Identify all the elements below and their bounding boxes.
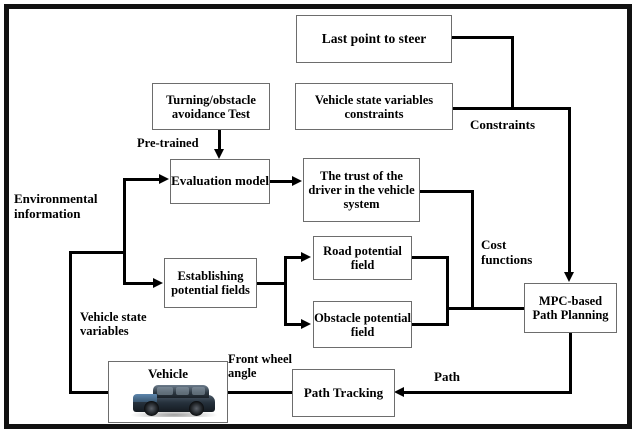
edge-road-pf-out-h xyxy=(412,256,449,259)
edge-env-to-establishing-h xyxy=(123,282,154,285)
edge-env-trunk-v xyxy=(123,178,126,285)
edge-label-cost-functions: Cost functions xyxy=(481,238,532,267)
box-evaluation-model[interactable]: Evaluation model xyxy=(170,159,270,204)
arrow-into-road-pf xyxy=(301,252,311,262)
arrow-path-into-path-tracking xyxy=(394,387,404,397)
edge-vehicle-feedback-h xyxy=(69,391,109,394)
edge-constraints-v xyxy=(568,107,571,273)
edge-label-vehicle-state-variables: Vehicle state variables xyxy=(80,310,147,338)
edge-label-pre-trained: Pre-trained xyxy=(137,136,199,150)
arrow-constraints-into-mpc xyxy=(564,272,574,282)
edge-obstacle-pf-out-v xyxy=(446,308,449,326)
edge-establishing-out-h xyxy=(257,282,287,285)
box-road-potential-field[interactable]: Road potential field xyxy=(313,236,412,280)
edge-trust-v xyxy=(471,190,474,310)
arrow-into-obstacle-pf xyxy=(301,319,311,329)
edge-establishing-split-v xyxy=(284,256,287,326)
edge-constraints-h xyxy=(453,107,571,110)
box-mpc-based-path-planning[interactable]: MPC-based Path Planning xyxy=(524,283,617,333)
edge-path-h xyxy=(404,391,572,394)
edge-cost-bus-into-mpc xyxy=(446,307,526,310)
edge-last-point-v xyxy=(511,36,514,108)
box-path-tracking[interactable]: Path Tracking xyxy=(292,369,395,417)
edge-env-to-evaluation-h xyxy=(123,178,160,181)
edge-front-wheel-angle-h xyxy=(228,391,292,394)
box-vehicle-state-variables-constraints[interactable]: Vehicle state variables constraints xyxy=(295,83,453,130)
edge-label-constraints: Constraints xyxy=(470,118,535,133)
edge-label-front-wheel-angle: Front wheel angle xyxy=(228,352,292,380)
edge-label-path: Path xyxy=(434,370,460,385)
edge-vehicle-feedback-top-h xyxy=(69,251,126,254)
vehicle-label: Vehicle xyxy=(109,367,227,382)
box-obstacle-potential-field[interactable]: Obstacle potential field xyxy=(313,301,412,348)
edge-evaluation-to-trust-h xyxy=(270,180,293,183)
arrow-env-into-establishing xyxy=(153,278,163,288)
edge-trust-h xyxy=(420,190,474,193)
box-establishing-potential-fields[interactable]: Establishing potential fields xyxy=(164,258,257,308)
edge-pretrained-v xyxy=(218,130,221,150)
box-last-point-to-steer[interactable]: Last point to steer xyxy=(296,15,452,63)
arrow-env-into-evaluation xyxy=(159,174,169,184)
block-diagram: Last point to steer Turning/obstacle avo… xyxy=(0,0,640,437)
edge-mpc-out-v xyxy=(569,333,572,393)
edge-last-point-h xyxy=(452,36,514,39)
edge-road-pf-out-v xyxy=(446,256,449,311)
arrow-evaluation-into-trust xyxy=(292,176,302,186)
edge-label-environmental-information: Environmental information xyxy=(14,192,98,221)
box-driver-trust[interactable]: The trust of the driver in the vehicle s… xyxy=(303,158,420,222)
arrow-pretrained-into-evaluation xyxy=(214,149,224,159)
box-turning-obstacle-avoidance-test[interactable]: Turning/obstacle avoidance Test xyxy=(152,83,270,130)
box-vehicle[interactable]: Vehicle xyxy=(108,361,228,423)
vehicle-photo-icon xyxy=(131,383,217,417)
edge-vehicle-feedback-v xyxy=(69,251,72,394)
edge-obstacle-pf-out-h xyxy=(412,323,449,326)
